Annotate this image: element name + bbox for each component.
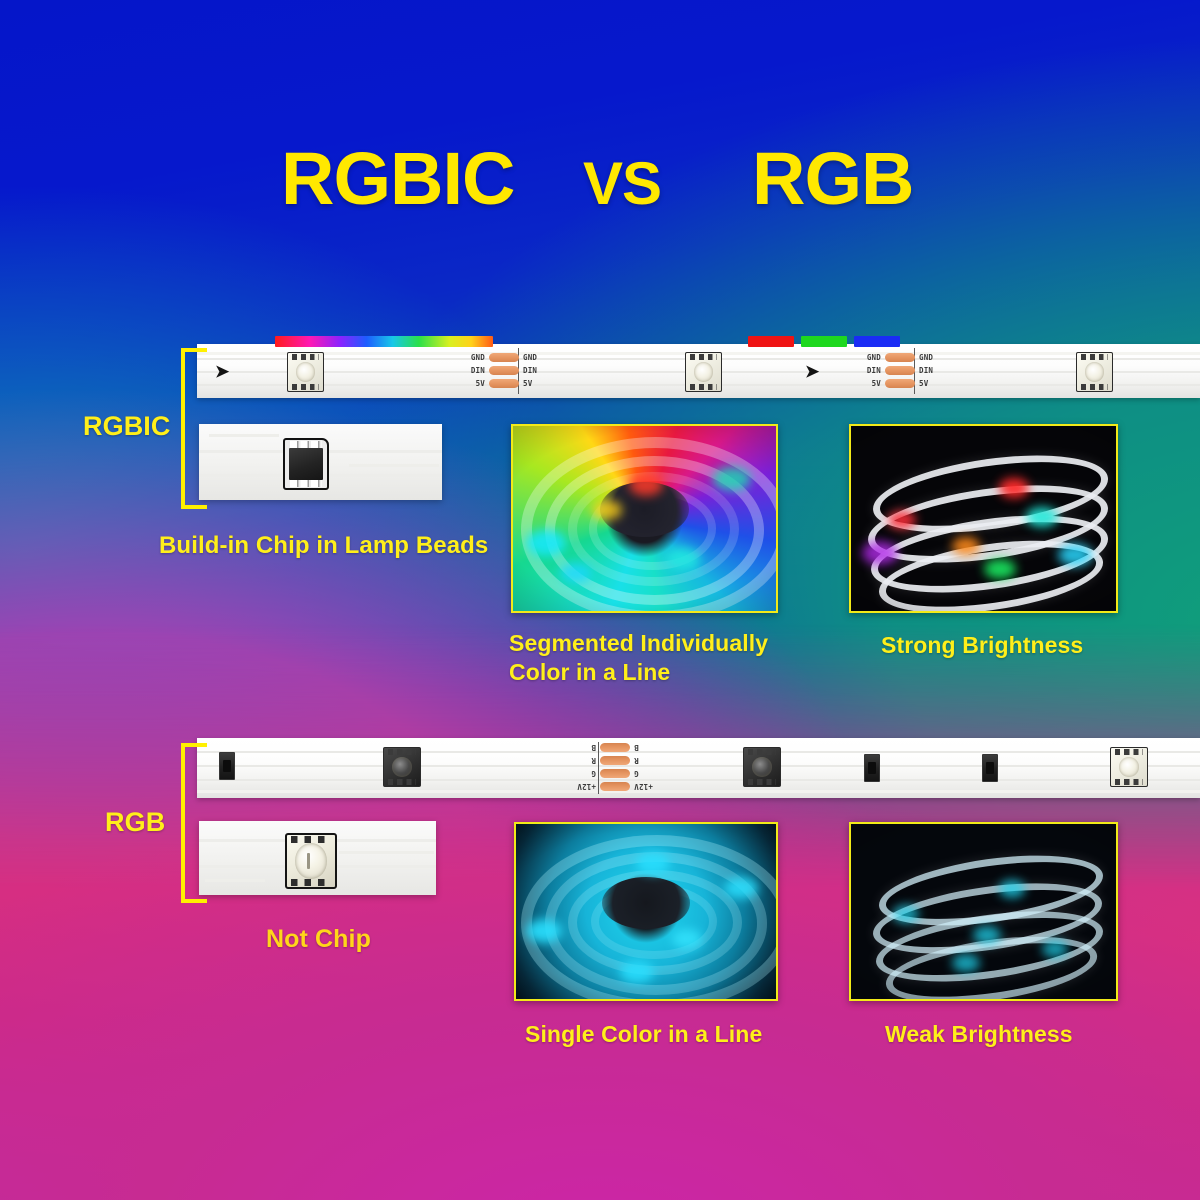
resistor (982, 754, 998, 782)
pad-label: G (566, 769, 596, 778)
pad-label: G (634, 769, 664, 778)
plain-led-icon (285, 833, 337, 889)
pad-label: DIN (459, 366, 485, 375)
solder-pad-group: GND GND DIN DIN 5V 5V (459, 344, 579, 398)
pad-label: GND (523, 353, 549, 362)
pad-label: R (634, 756, 664, 765)
caption-build-in-chip: Build-in Chip in Lamp Beads (159, 533, 488, 559)
photo-segmented-color (511, 424, 778, 613)
photo-single-color (514, 822, 778, 1001)
led-bead (1076, 352, 1113, 392)
rainbow-underline (275, 336, 493, 347)
pad-label: B (566, 743, 596, 752)
solder-pad-group: +12V +12V G G R R B B (532, 738, 664, 798)
caption-not-chip: Not Chip (266, 926, 371, 953)
title-row: RGBIC VS RGB (0, 126, 1200, 236)
pad-label: +12V (566, 782, 596, 791)
row-label-rgb: RGB (105, 808, 165, 837)
caption-weak-brightness: Weak Brightness (885, 1022, 1073, 1047)
pad-label: R (566, 756, 596, 765)
pad-label: 5V (523, 379, 549, 388)
bracket-rgb (181, 743, 207, 903)
photo-weak-brightness (849, 822, 1118, 1001)
pad-label: GND (919, 353, 945, 362)
closeup-no-chip-panel (199, 821, 436, 895)
led-strip-rgbic: ➤ ➤ GND GND DIN DIN 5V 5V GND (197, 344, 1200, 398)
title-vs: VS (583, 154, 661, 214)
pad-label: DIN (919, 366, 945, 375)
title-rgbic: RGBIC (281, 142, 514, 216)
pad-label: 5V (855, 379, 881, 388)
led-bead (743, 747, 781, 787)
resistor (219, 752, 235, 780)
pad-label: GND (855, 353, 881, 362)
ic-chip-icon (283, 438, 329, 490)
led-bead (685, 352, 722, 392)
underline-segment-red (748, 336, 794, 347)
led-bead (383, 747, 421, 787)
underline-segment-green (801, 336, 847, 347)
pad-label: B (634, 743, 664, 752)
title-rgb: RGB (752, 142, 913, 216)
caption-segmented-line1: Segmented Individually (509, 631, 768, 656)
photo-strong-brightness (849, 424, 1118, 613)
pad-label: DIN (523, 366, 549, 375)
caption-single-color: Single Color in a Line (525, 1022, 762, 1047)
closeup-chip-panel (199, 424, 442, 500)
row-label-rgbic: RGBIC (83, 412, 171, 441)
pad-label: 5V (919, 379, 945, 388)
pad-label: DIN (855, 366, 881, 375)
underline-segment-blue (854, 336, 900, 347)
bracket-rgbic (181, 348, 207, 509)
solder-pad-group: GND GND DIN DIN 5V 5V (855, 344, 975, 398)
led-bead (287, 352, 324, 392)
resistor (864, 754, 880, 782)
pad-label: 5V (459, 379, 485, 388)
caption-strong-brightness: Strong Brightness (881, 633, 1083, 658)
direction-arrow-icon: ➤ (215, 363, 229, 380)
direction-arrow-icon: ➤ (805, 363, 819, 380)
led-strip-rgb: +12V +12V G G R R B B (197, 738, 1200, 798)
caption-segmented-line2: Color in a Line (509, 660, 670, 685)
pad-label: +12V (634, 782, 664, 791)
led-bead (1110, 747, 1148, 787)
pad-label: GND (459, 353, 485, 362)
